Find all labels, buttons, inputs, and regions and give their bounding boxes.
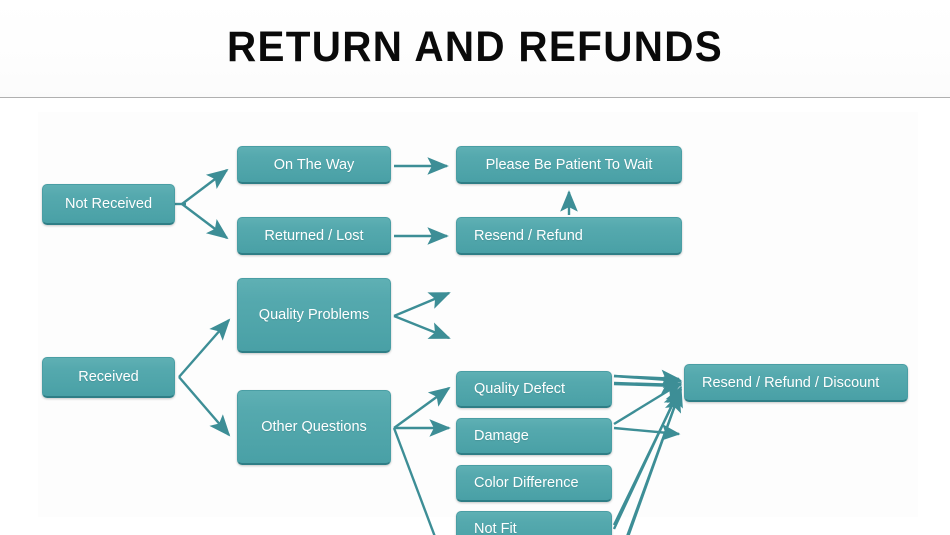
- flowchart-canvas: Not Received On The Way Returned / Lost …: [0, 98, 950, 535]
- node-resend-refund[interactable]: Resend / Refund: [456, 217, 682, 255]
- node-label: Quality Defect: [474, 381, 565, 397]
- node-label: Resend / Refund: [474, 228, 583, 244]
- node-label: Quality Problems: [259, 307, 369, 323]
- node-quality-problems[interactable]: Quality Problems: [237, 278, 391, 353]
- node-label: Please Be Patient To Wait: [486, 157, 653, 173]
- node-please-be-patient-to-wait[interactable]: Please Be Patient To Wait: [456, 146, 682, 184]
- node-label: Damage: [474, 428, 529, 444]
- node-color-difference[interactable]: Color Difference: [456, 465, 612, 502]
- node-label: Received: [78, 369, 138, 385]
- slide-canvas: RETURN AND REFUNDS: [0, 0, 950, 535]
- node-not-received[interactable]: Not Received: [42, 184, 175, 225]
- node-label: Color Difference: [474, 475, 579, 491]
- node-label: Not Fit: [474, 521, 517, 535]
- node-label: Other Questions: [261, 419, 367, 435]
- slide-header: RETURN AND REFUNDS: [0, 0, 950, 98]
- node-quality-defect[interactable]: Quality Defect: [456, 371, 612, 408]
- node-label: Resend / Refund / Discount: [702, 375, 879, 391]
- page-title: RETURN AND REFUNDS: [29, 23, 922, 72]
- node-on-the-way[interactable]: On The Way: [237, 146, 391, 184]
- node-other-questions[interactable]: Other Questions: [237, 390, 391, 465]
- node-returned-lost[interactable]: Returned / Lost: [237, 217, 391, 255]
- node-label: Not Received: [65, 196, 152, 212]
- node-damage[interactable]: Damage: [456, 418, 612, 455]
- node-not-fit[interactable]: Not Fit: [456, 511, 612, 535]
- node-label: Returned / Lost: [264, 228, 363, 244]
- node-label: On The Way: [274, 157, 355, 173]
- node-received[interactable]: Received: [42, 357, 175, 398]
- node-resend-refund-discount[interactable]: Resend / Refund / Discount: [684, 364, 908, 402]
